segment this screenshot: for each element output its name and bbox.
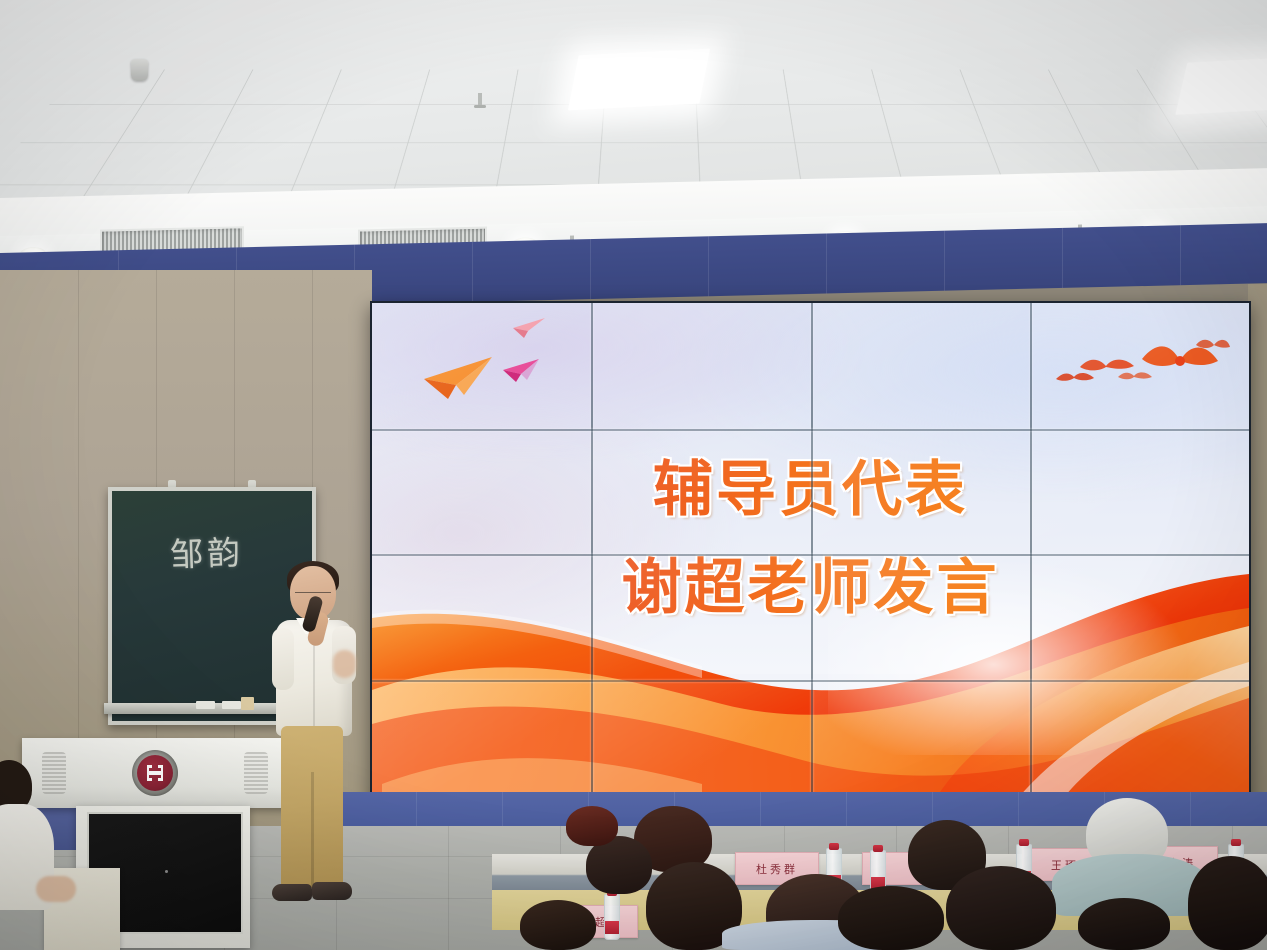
ceiling-tile (192, 143, 312, 186)
ceiling-tile (395, 143, 505, 186)
wall-seam (590, 239, 591, 299)
speaker-left-shoe (272, 884, 312, 901)
bottle-cap (829, 843, 839, 850)
ceiling-tile (234, 69, 342, 104)
pants-seam (311, 772, 314, 888)
wall-seam (1180, 225, 1181, 285)
audience-head-f4 (946, 866, 1056, 950)
video-wall-tile (372, 554, 591, 680)
video-wall-screen[interactable]: 辅导员代表 辅导员代表 谢超老师发言 谢超老师发言 (372, 303, 1249, 805)
ceiling-tile (788, 104, 892, 143)
eraser-2 (222, 701, 241, 709)
auditorium-photo: 邹韵 (0, 0, 1267, 950)
chalkboard-text: 邹韵 (169, 526, 245, 577)
video-wall-tile (1030, 554, 1249, 680)
video-wall-tile (811, 303, 1030, 429)
podium-speaker-grille-right (244, 752, 268, 794)
video-wall-tile (591, 680, 810, 806)
smoke-detector-icon (131, 59, 148, 81)
video-wall-tile (372, 680, 591, 806)
floor-tile-line (448, 826, 449, 950)
ceiling-tile (293, 143, 408, 186)
speaker-right-shoe (312, 882, 352, 900)
sprinkler-icon-1 (478, 93, 482, 108)
video-wall-tile (591, 303, 810, 429)
wall-seam (1062, 228, 1063, 288)
chalk-box (241, 697, 254, 710)
bottle-cap (1019, 839, 1029, 846)
ceiling-panel-light-2 (1175, 57, 1267, 114)
bottle-cap (873, 845, 883, 852)
video-wall-tile (372, 429, 591, 555)
ceiling-tile (497, 143, 602, 186)
university-crest-icon (132, 750, 178, 796)
ceiling-tile (601, 104, 699, 143)
audience-head-f8 (566, 806, 618, 846)
ceiling-tile (311, 104, 420, 143)
water-bottle-1 (604, 894, 620, 940)
video-wall-tile (591, 554, 810, 680)
ceiling-tile (881, 104, 989, 143)
crest-inner (137, 755, 173, 791)
video-wall-tile (1030, 429, 1249, 555)
video-wall-tile (1030, 680, 1249, 806)
video-wall-tile (811, 680, 1030, 806)
ceiling-tile (783, 69, 882, 104)
wall-seam (826, 234, 827, 294)
ceiling-tile (419, 69, 519, 104)
ceiling-tile (694, 69, 789, 104)
crest-glyph (143, 761, 167, 785)
video-wall-tile (811, 554, 1030, 680)
wall-seam (944, 231, 945, 291)
seated-person-left (0, 760, 64, 950)
video-wall-tile (372, 303, 591, 429)
video-wall-tile (591, 429, 810, 555)
audience-head-f7 (520, 900, 596, 950)
ceiling-tile (598, 143, 700, 186)
ceiling-tile (696, 104, 795, 143)
ceiling-panel-light-1 (568, 49, 710, 111)
wall-seam (472, 242, 473, 302)
audience-head-f3 (838, 886, 944, 950)
audience-head-f5 (1078, 898, 1170, 950)
speaker-left-arm (272, 628, 294, 690)
ceiling-tile (214, 104, 327, 143)
eraser-1 (196, 701, 215, 709)
video-wall-tile (811, 429, 1030, 555)
ceiling-tile (326, 69, 430, 104)
ceiling-tile (407, 104, 512, 143)
speaker-gesturing-hand (333, 650, 356, 678)
shirt-placket (313, 632, 315, 732)
audience-head-f6 (1188, 856, 1267, 950)
monitor-led (165, 870, 168, 873)
wall-seam (708, 236, 709, 296)
bottle-cap (1231, 839, 1241, 846)
video-wall-tile (1030, 303, 1249, 429)
video-wall-bezels (372, 303, 1249, 805)
ceiling-tile (871, 69, 974, 104)
ceiling-tile (504, 104, 604, 143)
bottle-label (605, 921, 619, 934)
